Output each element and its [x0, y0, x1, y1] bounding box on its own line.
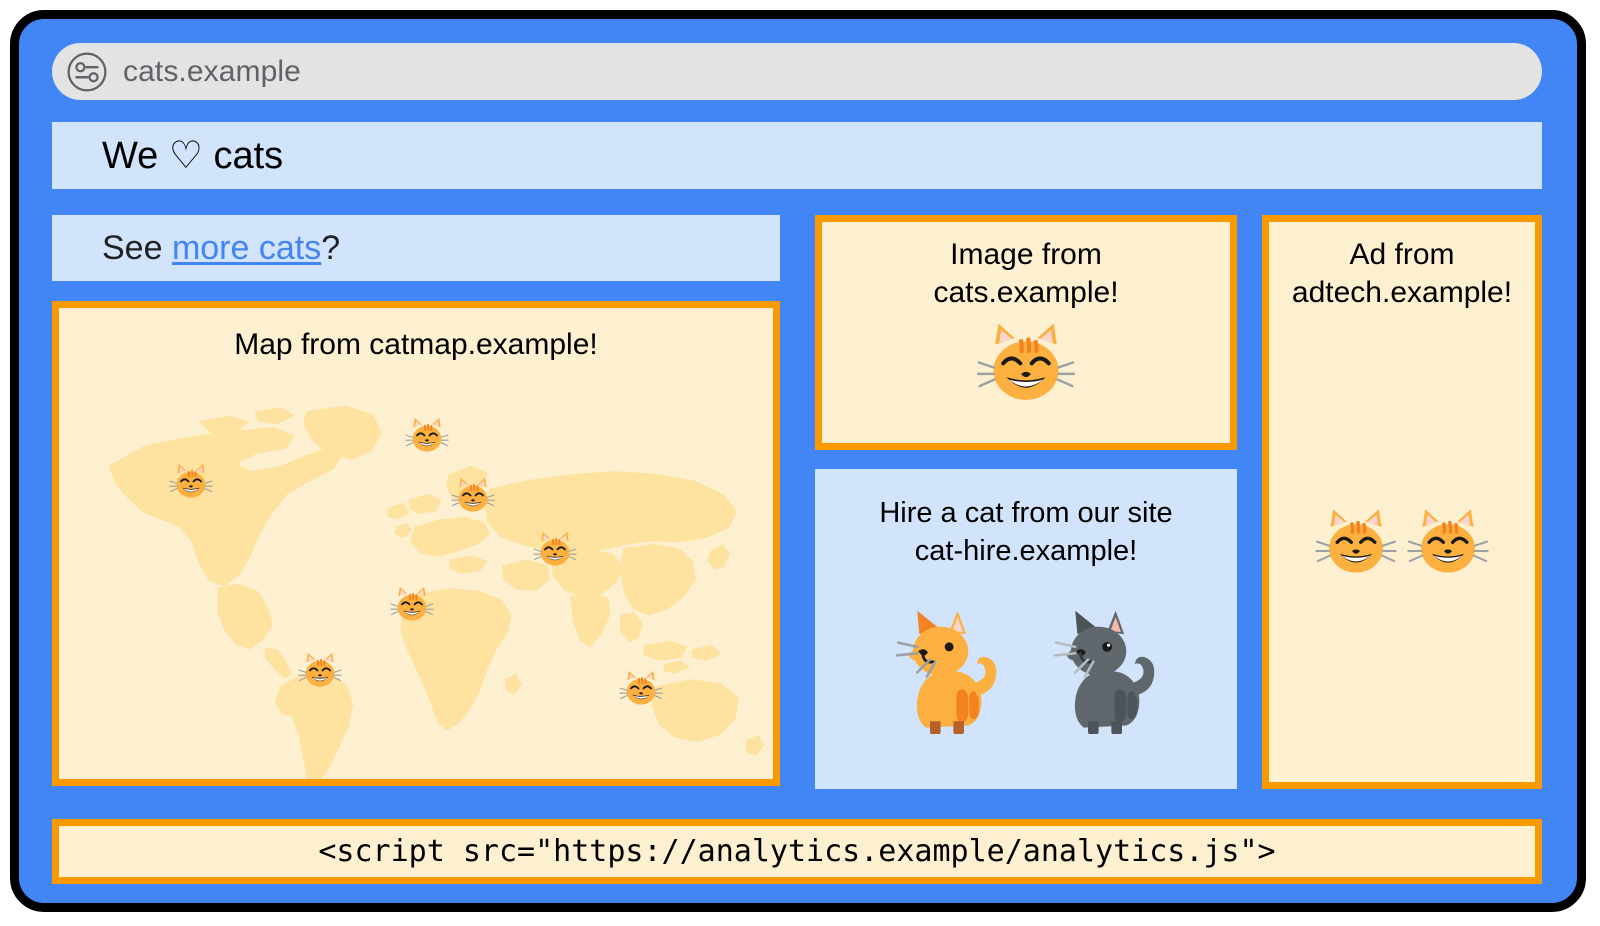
see-more-cats-bar: See more cats?	[52, 215, 780, 281]
grinning-cat-face-icon	[1405, 504, 1491, 590]
orange-cat-icon	[879, 598, 1015, 734]
link-suffix-text: ?	[321, 229, 340, 267]
ad-panel-title: Ad from adtech.example!	[1269, 236, 1535, 313]
image-panel[interactable]: Image from cats.example!	[815, 215, 1237, 450]
omnibox-url-text[interactable]: cats.example	[123, 55, 301, 89]
marker-africa-west[interactable]	[389, 584, 435, 630]
ad-panel[interactable]: Ad from adtech.example!	[1262, 215, 1542, 789]
omnibox[interactable]: cats.example	[52, 43, 1542, 100]
ad-panel-title-line1: Ad from	[1269, 236, 1535, 274]
map-panel-title: Map from catmap.example!	[59, 328, 773, 362]
ad-panel-title-line2: adtech.example!	[1269, 274, 1535, 312]
marker-south-america[interactable]	[297, 650, 343, 696]
page-title: We ♡ cats	[102, 133, 283, 178]
see-more-cats-sentence: See more cats?	[102, 229, 340, 268]
hire-panel-title-line1: Hire a cat from our site	[815, 495, 1237, 533]
tune-icon[interactable]	[66, 51, 108, 93]
script-tag-code: <script src="https://analytics.example/a…	[318, 834, 1275, 869]
script-bar: <script src="https://analytics.example/a…	[52, 819, 1542, 884]
hire-panel[interactable]: Hire a cat from our site cat-hire.exampl…	[815, 469, 1237, 789]
marker-north-america[interactable]	[168, 461, 214, 507]
link-prefix-text: See	[102, 229, 172, 267]
marker-europe[interactable]	[450, 475, 496, 521]
grinning-cat-face-icon	[974, 317, 1078, 421]
world-map[interactable]	[59, 380, 773, 779]
hire-panel-title: Hire a cat from our site cat-hire.exampl…	[815, 495, 1237, 570]
grinning-cat-face-icon	[1313, 504, 1399, 590]
marker-australia[interactable]	[618, 668, 664, 714]
grey-cat-icon	[1037, 598, 1173, 734]
ad-panel-cats	[1269, 504, 1535, 590]
image-panel-title-line1: Image from	[822, 236, 1230, 274]
hire-panel-cats	[815, 598, 1237, 734]
page-heading-bar: We ♡ cats	[52, 122, 1542, 189]
more-cats-link[interactable]: more cats	[172, 229, 321, 267]
image-panel-title-line2: cats.example!	[822, 274, 1230, 312]
hire-panel-title-line2: cat-hire.example!	[815, 533, 1237, 571]
map-panel[interactable]: Map from catmap.example!	[52, 301, 780, 786]
image-panel-title: Image from cats.example!	[822, 236, 1230, 313]
marker-asia-south[interactable]	[532, 529, 578, 575]
marker-europe-north[interactable]	[404, 415, 450, 461]
browser-window: cats.example We ♡ cats See more cats? Ma…	[10, 10, 1586, 912]
